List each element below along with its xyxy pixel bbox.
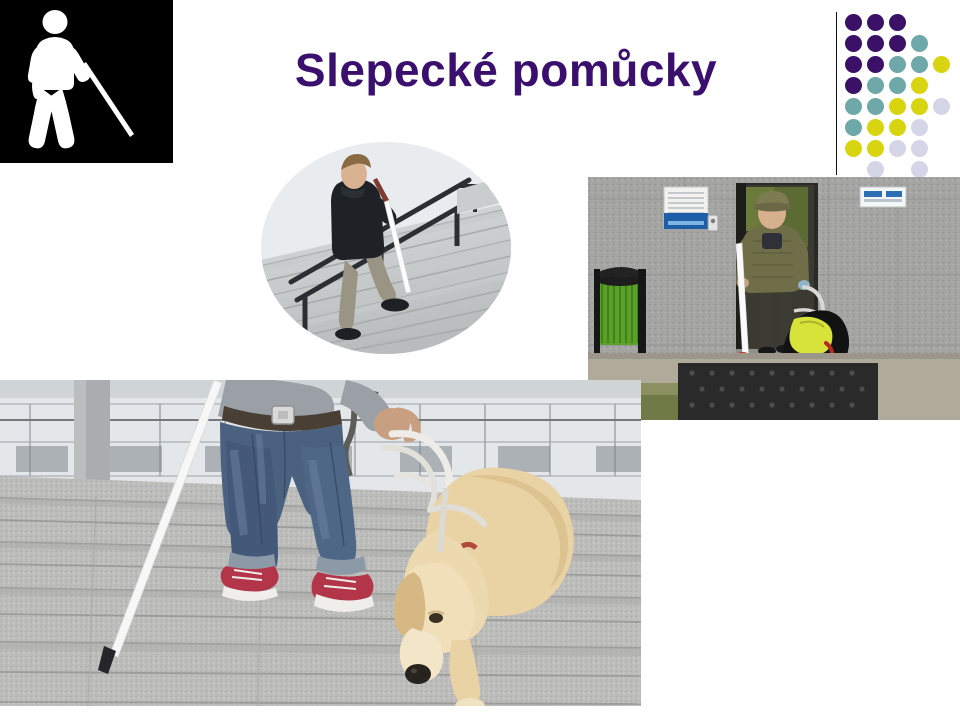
logo-dot-purple [845, 14, 862, 31]
logo-dot-purple [867, 35, 884, 52]
logo-dot-lavender [911, 161, 928, 178]
logo-dot-purple [845, 35, 862, 52]
logo-dot-purple [845, 77, 862, 94]
logo-dot-teal [845, 98, 862, 115]
logo-dot-teal [867, 77, 884, 94]
photo-doorway-guide-dog-image [588, 177, 960, 420]
logo-dot-yellow [867, 119, 884, 136]
dot-matrix-logo [845, 14, 955, 174]
logo-dot-purple [867, 56, 884, 73]
logo-dot-yellow [933, 56, 950, 73]
blind-pedestrian-icon [0, 0, 173, 163]
logo-dot-purple [867, 14, 884, 31]
logo-dot-yellow [889, 98, 906, 115]
logo-dot-yellow [911, 98, 928, 115]
blind-pedestrian-pictogram [0, 0, 173, 163]
logo-dot-lavender [867, 161, 884, 178]
photo-stairs-white-cane-image [261, 142, 511, 354]
logo-dot-purple [889, 14, 906, 31]
photo-doorway-guide-dog [588, 177, 960, 420]
logo-dot-yellow [845, 140, 862, 157]
logo-dot-yellow [911, 77, 928, 94]
page-title: Slepecké pomůcky [186, 45, 826, 96]
logo-dot-lavender [911, 140, 928, 157]
logo-dot-teal [889, 56, 906, 73]
logo-dot-lavender [889, 140, 906, 157]
logo-dot-teal [911, 35, 928, 52]
presentation-slide: Slepecké pomůcky [0, 0, 960, 720]
logo-dot-purple [845, 56, 862, 73]
logo-dot-teal [911, 56, 928, 73]
logo-dot-teal [845, 119, 862, 136]
photo-steps-labrador-guide-dog [0, 380, 641, 706]
logo-dot-lavender [911, 119, 928, 136]
logo-dot-purple [889, 35, 906, 52]
photo-steps-labrador-image [0, 380, 641, 706]
logo-dot-lavender [933, 98, 950, 115]
logo-dot-teal [889, 77, 906, 94]
photo-stairs-white-cane [261, 142, 511, 354]
logo-divider-rule [836, 12, 837, 175]
logo-dot-teal [867, 98, 884, 115]
logo-dot-yellow [867, 140, 884, 157]
logo-dot-yellow [889, 119, 906, 136]
